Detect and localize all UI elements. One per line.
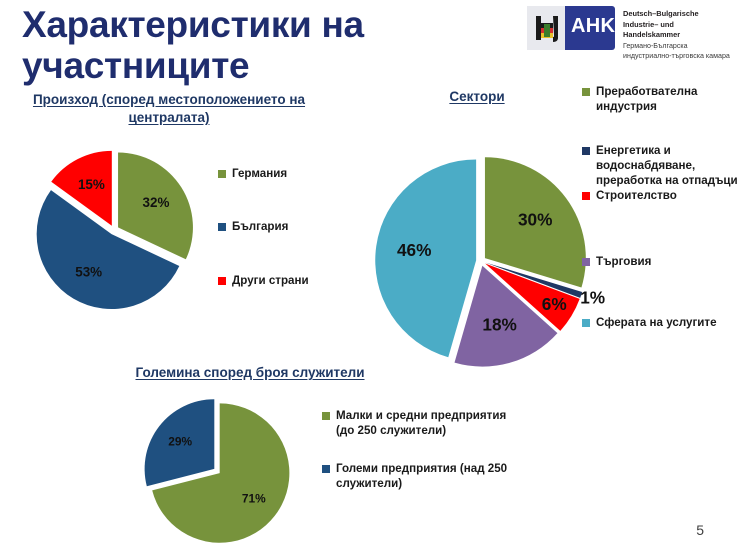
- pie-chart-origin: 32%53%15%: [18, 134, 210, 326]
- legend-item-label: Германия: [232, 166, 287, 181]
- logo-caption-line2: Industrie– und Handelskammer: [623, 20, 732, 41]
- legend-swatch-icon: [582, 192, 590, 200]
- legend-swatch-icon: [218, 277, 226, 285]
- ahk-logo-badge: AHK: [527, 6, 615, 50]
- page-number: 5: [696, 522, 704, 538]
- legend-item-label: Строителство: [596, 188, 677, 203]
- legend-size: Малки и средни предприятия (до 250 служи…: [322, 408, 512, 493]
- legend-swatch-icon: [322, 465, 330, 473]
- legend-origin: ГерманияБългарияДруги страни: [218, 166, 336, 326]
- legend-item-origin-2[interactable]: Други страни: [218, 273, 336, 288]
- pie-slice-label-origin-0: 32%: [143, 195, 170, 210]
- legend-item-label: Енергетика и водоснабдяване, преработка …: [596, 143, 740, 189]
- legend-item-label: Малки и средни предприятия (до 250 служи…: [336, 408, 512, 439]
- legend-item-sectors-4[interactable]: Сферата на услугите: [582, 315, 740, 330]
- logo-caption-line4: индустриално-търговска камара: [623, 51, 732, 61]
- chart-title-origin: Произход (според местоположението на цен…: [14, 91, 324, 127]
- legend-item-sectors-1[interactable]: Енергетика и водоснабдяване, преработка …: [582, 143, 740, 189]
- pie-chart-sectors: 30%1%6%18%46%: [358, 138, 604, 384]
- page-title: Характеристики на участниците: [22, 4, 502, 87]
- pie-slice-label-sectors-2: 6%: [542, 294, 567, 314]
- legend-item-label: Други страни: [232, 273, 309, 288]
- legend-item-origin-1[interactable]: България: [218, 219, 336, 234]
- legend-swatch-icon: [582, 147, 590, 155]
- legend-swatch-icon: [582, 258, 590, 266]
- logo-caption-line1: Deutsch–Bulgarische: [623, 9, 732, 20]
- legend-item-label: Преработвателна индустрия: [596, 84, 740, 115]
- logo-caption: Deutsch–Bulgarische Industrie– und Hande…: [623, 6, 732, 61]
- pie-slice-label-size-1: 29%: [168, 435, 192, 449]
- legend-item-label: Сферата на услугите: [596, 315, 717, 330]
- legend-swatch-icon: [582, 319, 590, 327]
- legend-item-size-1[interactable]: Големи предприятия (над 250 служители): [322, 461, 512, 492]
- legend-item-sectors-2[interactable]: Строителство: [582, 188, 740, 203]
- pie-chart-size: 71%29%: [128, 386, 306, 556]
- legend-swatch-icon: [582, 88, 590, 96]
- legend-item-label: Големи предприятия (над 250 служители): [336, 461, 512, 492]
- legend-item-label: Търговия: [596, 254, 651, 269]
- ahk-logo: AHK Deutsch–Bulgarische Industrie– und H…: [527, 6, 732, 56]
- legend-swatch-icon: [218, 170, 226, 178]
- pie-slice-label-size-0: 71%: [242, 492, 266, 506]
- legend-sectors: Преработвателна индустрияЕнергетика и во…: [582, 84, 740, 330]
- pie-slice-label-origin-1: 53%: [75, 264, 102, 279]
- pie-slice-label-sectors-3: 18%: [482, 314, 516, 334]
- legend-item-label: България: [232, 219, 288, 234]
- legend-item-sectors-3[interactable]: Търговия: [582, 254, 740, 269]
- logo-ahk-text: AHK: [571, 15, 615, 38]
- chart-title-sectors: Сектори: [392, 88, 562, 106]
- logo-caption-line3: Германо-Българска: [623, 41, 732, 51]
- legend-item-origin-0[interactable]: Германия: [218, 166, 336, 181]
- legend-item-size-0[interactable]: Малки и средни предприятия (до 250 служи…: [322, 408, 512, 439]
- legend-item-sectors-0[interactable]: Преработвателна индустрия: [582, 84, 740, 115]
- pie-slice-label-origin-2: 15%: [78, 177, 105, 192]
- pie-slice-label-sectors-4: 46%: [397, 240, 431, 260]
- chart-title-size: Големина според броя служители: [102, 364, 398, 382]
- logo-monogram-icon: [533, 14, 559, 42]
- pie-slice-label-sectors-0: 30%: [518, 209, 552, 229]
- legend-swatch-icon: [218, 223, 226, 231]
- legend-swatch-icon: [322, 412, 330, 420]
